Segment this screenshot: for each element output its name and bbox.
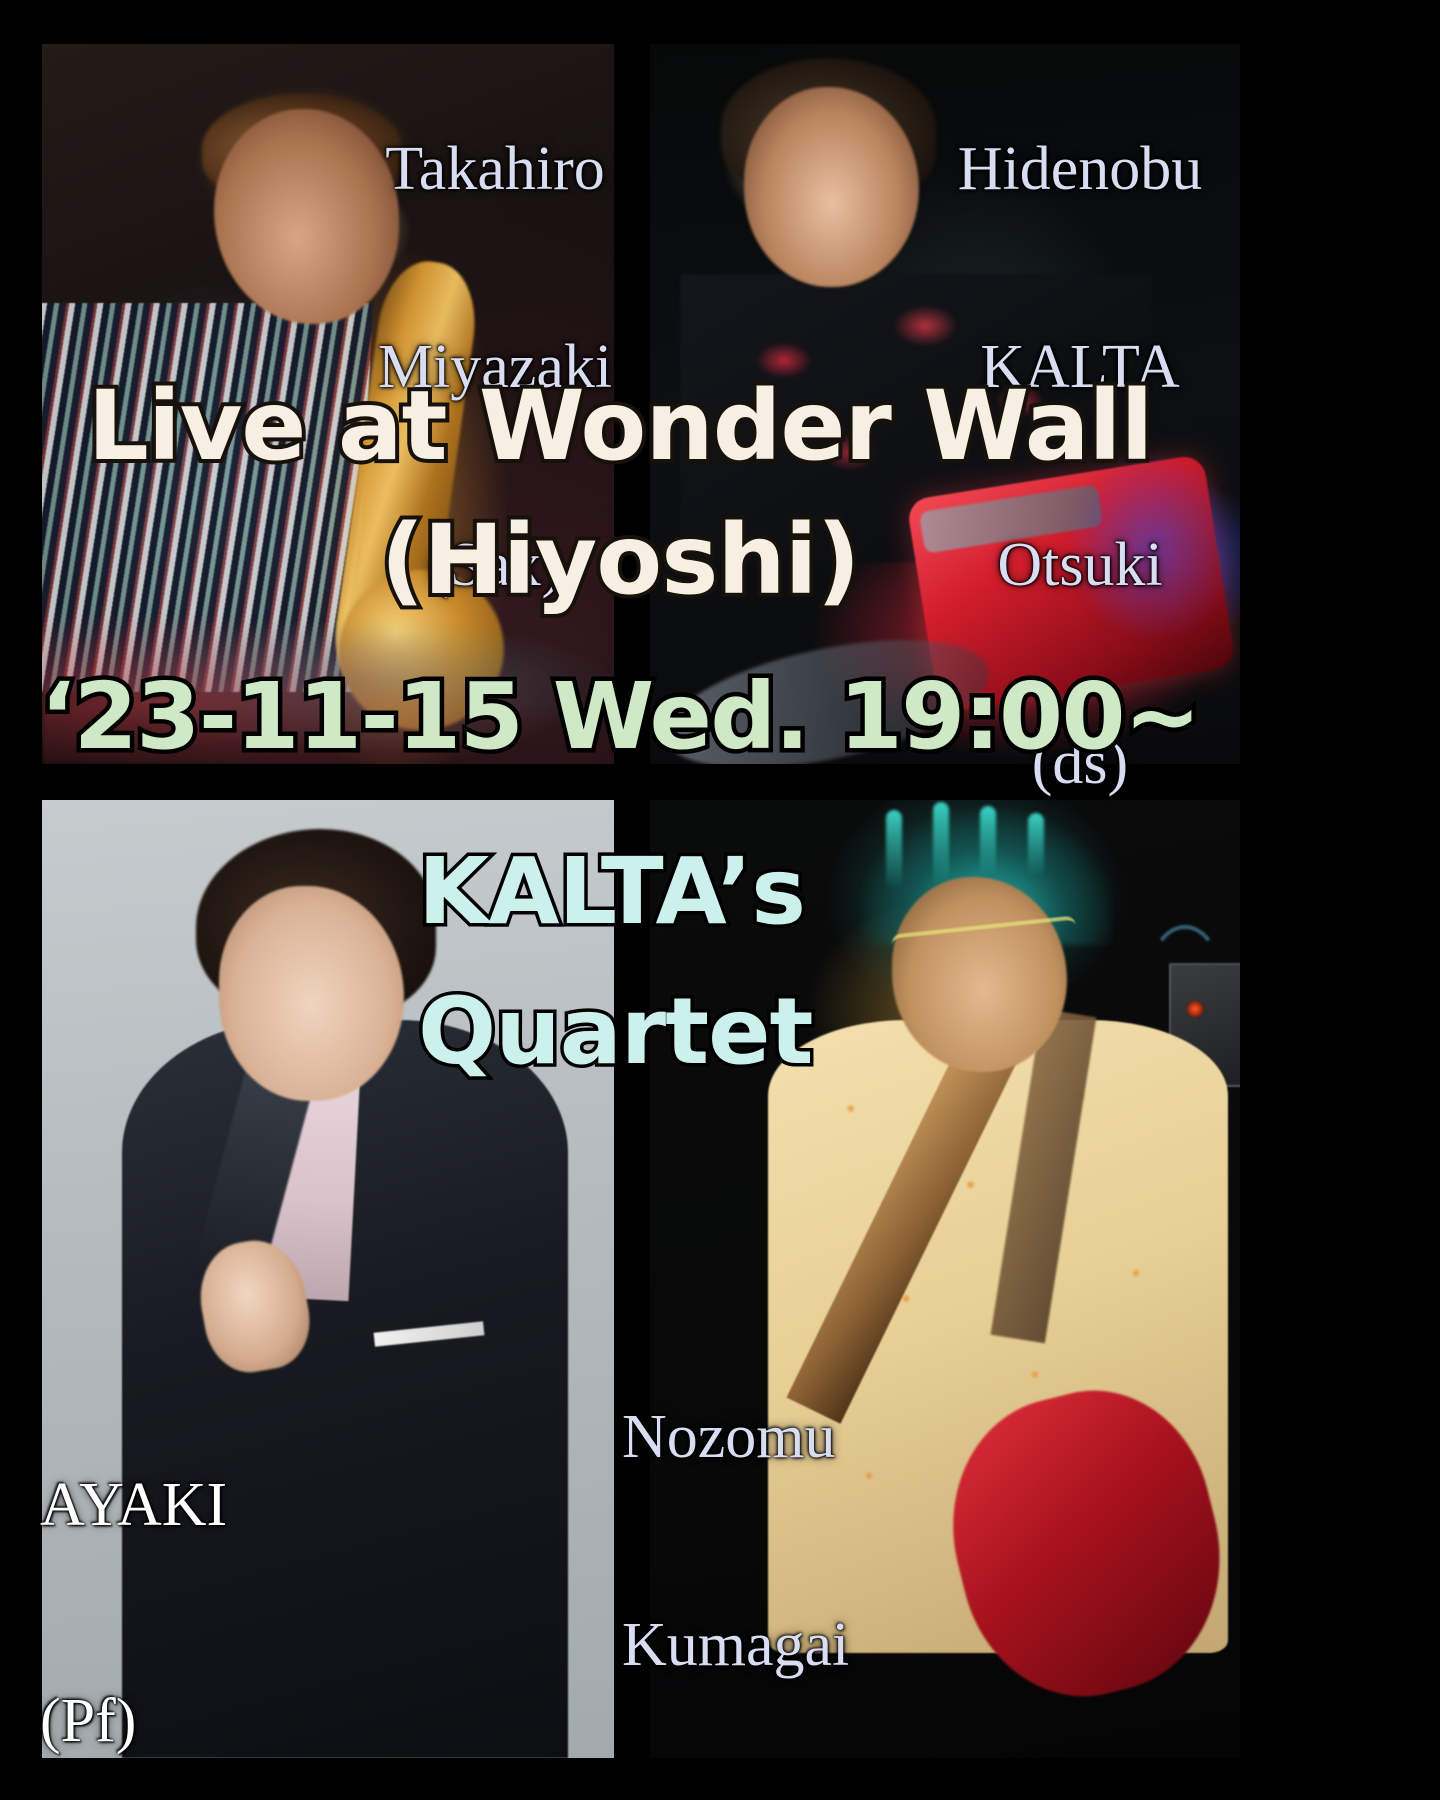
performer-instrument: (Pf) (40, 1690, 227, 1753)
performer-given-name: Takahiro (330, 138, 660, 201)
performer-stage-name: AYAKI (40, 1474, 227, 1537)
band-name-line-1: KALTA’s (418, 845, 805, 939)
drummer-face (744, 87, 919, 287)
event-venue-area: (Hiyoshi) (0, 512, 1240, 610)
event-date-time: ‘23-11-15 Wed. 19:00~ (0, 670, 1240, 764)
performer-family-name: Kumagai (622, 1614, 849, 1677)
performer-name-piano: AYAKI (Pf) (40, 1348, 227, 1800)
concert-poster: Takahiro Miyazaki (Sax) Hidenobu KALTA O… (0, 0, 1240, 1800)
instrument-cable (1146, 925, 1224, 1043)
performer-name-bass: Nozomu Kumagai (bs) (622, 1280, 849, 1800)
hair-spike-icon (886, 810, 902, 888)
performer-given-name: Nozomu (622, 1406, 849, 1469)
performer-given-name: Hidenobu (920, 138, 1240, 201)
event-title-line-1: Live at Wonder Wall (0, 378, 1240, 476)
band-name-line-2: Quartet (418, 985, 813, 1079)
